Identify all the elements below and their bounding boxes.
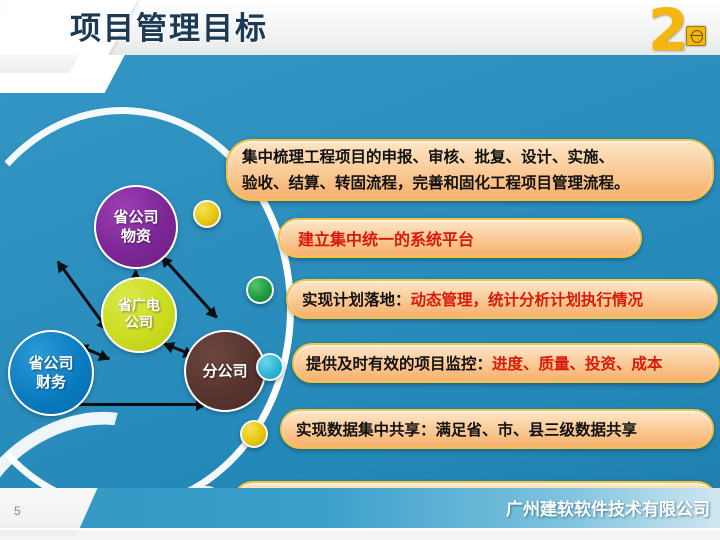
goal-item-1[interactable]: 集中梳理工程项目的申报、审核、批复、设计、实施、 验收、结算、转固流程，完善和固… (226, 139, 714, 201)
slide-header: 项目管理目标 2 (0, 0, 720, 62)
company-name: 广州建软软件技术有限公司 (506, 495, 710, 520)
diagram-node-provincial-finance[interactable]: 省公司财务 (8, 330, 94, 416)
goal-text-red: 进度、质量、投资、成本 (492, 352, 663, 374)
goal-item-2[interactable]: 建立集中统一的系统平台 (278, 218, 642, 258)
node-label: 分公司 (202, 362, 247, 381)
goal-item-3[interactable]: 实现计划落地：动态管理，统计分析计划执行情况 (286, 279, 718, 319)
goal-item-5[interactable]: 实现数据集中共享：满足省、市、县三级数据共享 (280, 409, 714, 449)
slide-footer: 5 广州建软软件技术有限公司 (0, 488, 720, 540)
goal-text: 实现数据集中共享：满足省、市、县三级数据共享 (296, 418, 637, 440)
node-label: 省公司物资 (113, 208, 158, 246)
goal-text-red: 动态管理，统计分析计划执行情况 (411, 288, 644, 310)
diagram-node-provincial-materials[interactable]: 省公司物资 (94, 185, 178, 269)
goal-text: 建立集中统一的系统平台 (298, 226, 474, 250)
goal-item-4[interactable]: 提供及时有效的项目监控：进度、质量、投资、成本 (292, 343, 720, 383)
globe-icon (686, 26, 706, 46)
arc-dot-3[interactable] (256, 353, 284, 381)
logo-digit: 2 (648, 2, 688, 58)
logo: 2 (644, 2, 710, 60)
goal-text-black: 实现计划落地： (302, 288, 411, 310)
goal-text: 集中梳理工程项目的申报、审核、批复、设计、实施、 验收、结算、转固流程，完善和固… (242, 144, 630, 196)
page-number: 5 (14, 504, 21, 518)
arc-dot-4[interactable] (240, 420, 268, 448)
node-label: 省广电公司 (118, 298, 160, 332)
arrow-cw-fgs (60, 403, 206, 406)
arc-dot-2[interactable] (246, 276, 274, 304)
slide-body: 省公司物资 省广电公司 省公司财务 分公司 集中梳理工程项目的申报、审核、批复、… (0, 55, 720, 510)
goal-text-black: 提供及时有效的项目监控： (306, 352, 492, 374)
footer-divider (0, 528, 720, 530)
diagram-node-provincial-broadcasting[interactable]: 省广电公司 (101, 277, 177, 353)
arc-dot-1[interactable] (193, 200, 221, 228)
page-title: 项目管理目标 (70, 6, 268, 52)
node-label: 省公司财务 (28, 354, 73, 392)
slide: 项目管理目标 2 省公司物资 省广电公司 省公司财务 分公司 (0, 0, 720, 540)
diagram-node-branch-company[interactable]: 分公司 (184, 330, 266, 412)
